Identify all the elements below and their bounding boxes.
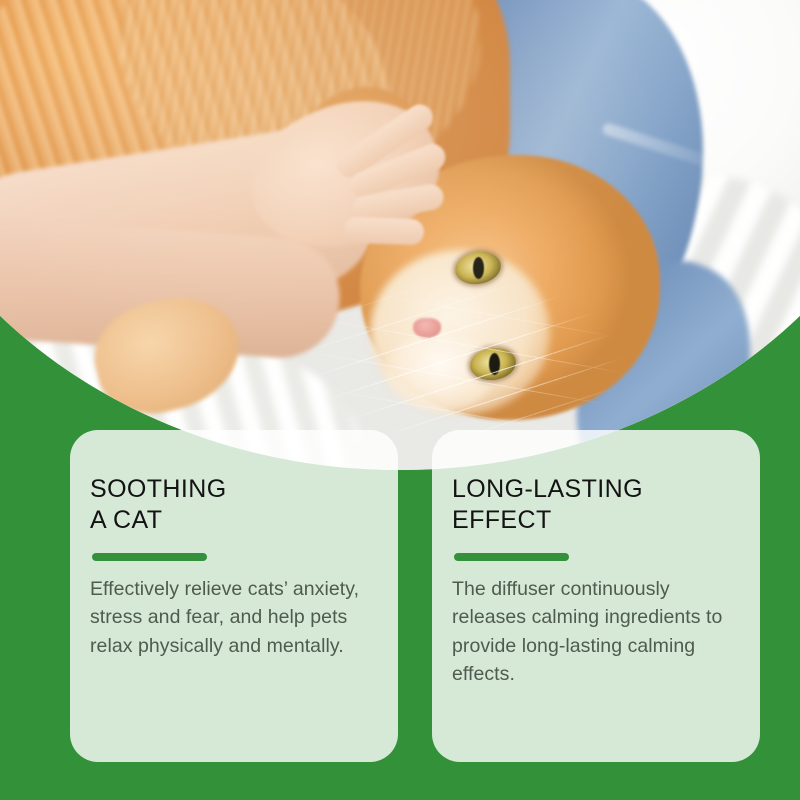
feature-card-accent-rule: [454, 553, 569, 561]
feature-card-group: SOOTHING A CAT Effectively relieve cats’…: [70, 430, 760, 762]
product-feature-poster: SOOTHING A CAT Effectively relieve cats’…: [0, 0, 800, 800]
feature-card-body: The diffuser continuously releases calmi…: [452, 575, 736, 688]
feature-card-body: Effectively relieve cats’ anxiety, stres…: [90, 575, 374, 660]
photo-warm-light-overlay: [0, 0, 800, 470]
feature-card-long-lasting-effect: LONG-LASTING EFFECT The diffuser continu…: [432, 430, 760, 762]
feature-card-title: LONG-LASTING EFFECT: [452, 474, 736, 536]
feature-card-soothing-a-cat: SOOTHING A CAT Effectively relieve cats’…: [70, 430, 398, 762]
hero-photo-cat-in-lap: [0, 0, 800, 470]
feature-card-title: SOOTHING A CAT: [90, 474, 374, 536]
hero-photo-clip: [0, 0, 800, 470]
feature-card-accent-rule: [92, 553, 207, 561]
